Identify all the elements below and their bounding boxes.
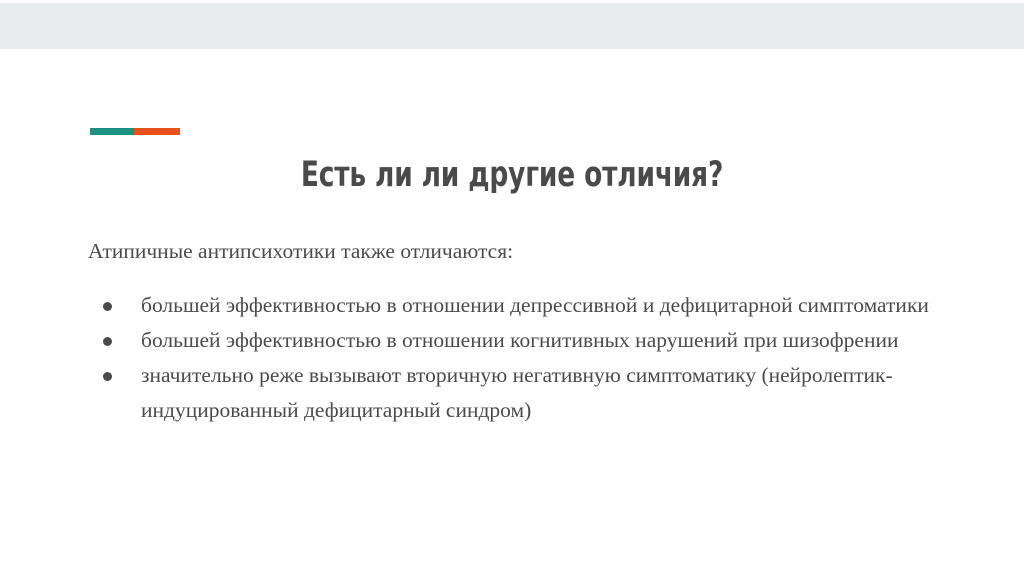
accent-rule-orange-segment (134, 128, 180, 135)
slide-body: Атипичные антипсихотики также отличаются… (88, 236, 948, 428)
list-item-label: значительно реже вызывают вторичную нега… (141, 358, 941, 428)
accent-rule-teal-segment (90, 128, 134, 135)
slide: Есть ли ли другие отличия? Атипичные ант… (0, 0, 1024, 574)
lead-paragraph: Атипичные антипсихотики также отличаются… (88, 236, 948, 266)
list-item: значительно реже вызывают вторичную нега… (88, 358, 948, 428)
list-item: большей эффективностью в отношении когни… (88, 323, 948, 358)
list-item: большей эффективностью в отношении депре… (88, 288, 948, 323)
accent-rule (90, 128, 180, 135)
bullet-dot-icon (103, 302, 112, 311)
bullet-dot-icon (103, 372, 112, 381)
list-item-label: большей эффективностью в отношении когни… (141, 323, 941, 358)
top-header-band (0, 3, 1024, 49)
bullet-list: большей эффективностью в отношении депре… (88, 288, 948, 428)
list-item-label: большей эффективностью в отношении депре… (141, 288, 941, 323)
bullet-dot-icon (103, 337, 112, 346)
slide-title: Есть ли ли другие отличия? (82, 155, 942, 195)
